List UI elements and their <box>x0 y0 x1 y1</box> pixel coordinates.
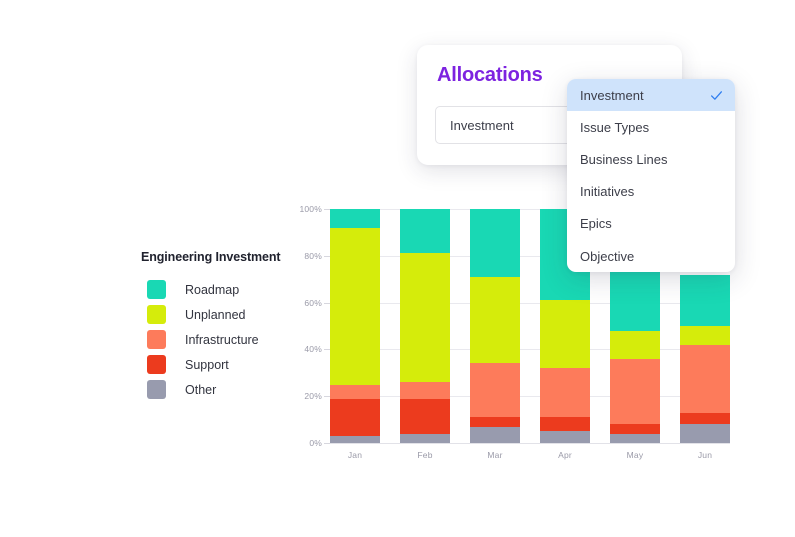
x-tick-label: May <box>610 450 660 460</box>
bar-segment[interactable] <box>400 399 450 434</box>
dropdown-item-epics[interactable]: Epics <box>567 208 735 240</box>
dropdown-item-issue-types[interactable]: Issue Types <box>567 111 735 143</box>
bar-segment[interactable] <box>680 424 730 443</box>
dropdown-item-label: Epics <box>580 216 612 231</box>
bar-segment[interactable] <box>610 424 660 433</box>
bar-segment[interactable] <box>330 228 380 385</box>
legend-swatch-other <box>147 380 166 399</box>
dropdown-item-business-lines[interactable]: Business Lines <box>567 143 735 175</box>
legend-label: Infrastructure <box>185 333 259 347</box>
bar-segment[interactable] <box>470 427 520 443</box>
bar-column[interactable] <box>330 209 380 443</box>
bar-segment[interactable] <box>540 368 590 417</box>
legend-title: Engineering Investment <box>141 250 301 264</box>
bar-segment[interactable] <box>610 331 660 359</box>
bar-segment[interactable] <box>330 399 380 436</box>
bar-segment[interactable] <box>540 300 590 368</box>
x-tick-label: Jun <box>680 450 730 460</box>
dropdown-item-label: Initiatives <box>580 184 634 199</box>
bar-segment[interactable] <box>680 345 730 413</box>
bar-column[interactable] <box>400 209 450 443</box>
legend-swatch-unplanned <box>147 305 166 324</box>
dropdown-item-label: Investment <box>580 88 644 103</box>
legend-swatch-support <box>147 355 166 374</box>
bar-segment[interactable] <box>610 359 660 425</box>
bar-segment[interactable] <box>330 436 380 443</box>
bar-segment[interactable] <box>680 326 730 345</box>
dropdown-item-label: Objective <box>580 249 634 264</box>
dropdown-item-label: Issue Types <box>580 120 649 135</box>
legend-label: Support <box>185 358 229 372</box>
y-tick-label: 100% <box>288 204 322 214</box>
bar-segment[interactable] <box>400 382 450 398</box>
x-tick-label: Feb <box>400 450 450 460</box>
legend-label: Roadmap <box>185 283 239 297</box>
bar-segment[interactable] <box>330 209 380 228</box>
legend-item: Unplanned <box>141 302 301 327</box>
legend-label: Other <box>185 383 216 397</box>
bar-segment[interactable] <box>400 253 450 382</box>
legend-swatch-roadmap <box>147 280 166 299</box>
legend-swatch-infrastructure <box>147 330 166 349</box>
bar-segment[interactable] <box>400 209 450 253</box>
x-tick-label: Jan <box>330 450 380 460</box>
page-title: Allocations <box>437 64 543 87</box>
check-icon <box>710 89 723 102</box>
bar-segment[interactable] <box>470 209 520 277</box>
legend-item: Other <box>141 377 301 402</box>
bar-segment[interactable] <box>470 363 520 417</box>
dropdown-item-investment[interactable]: Investment <box>567 79 735 111</box>
x-tick-label: Mar <box>470 450 520 460</box>
gridline-baseline <box>330 443 730 444</box>
bar-segment[interactable] <box>680 413 730 425</box>
bar-segment[interactable] <box>470 277 520 364</box>
chart-legend: Engineering Investment Roadmap Unplanned… <box>141 250 301 402</box>
legend-label: Unplanned <box>185 308 245 322</box>
bar-segment[interactable] <box>470 417 520 426</box>
legend-item: Infrastructure <box>141 327 301 352</box>
x-tick-label: Apr <box>540 450 590 460</box>
bar-column[interactable] <box>470 209 520 443</box>
bar-segment[interactable] <box>610 434 660 443</box>
legend-item: Support <box>141 352 301 377</box>
bar-segment[interactable] <box>540 431 590 443</box>
dropdown-item-label: Business Lines <box>580 152 667 167</box>
allocation-type-dropdown-menu[interactable]: InvestmentIssue TypesBusiness LinesIniti… <box>567 79 735 272</box>
dropdown-item-initiatives[interactable]: Initiatives <box>567 176 735 208</box>
bar-segment[interactable] <box>400 434 450 443</box>
bar-segment[interactable] <box>680 275 730 326</box>
y-tick-label: 0% <box>288 438 322 448</box>
select-value: Investment <box>450 118 514 133</box>
x-axis: Jan Feb Mar Apr May Jun <box>330 450 730 460</box>
legend-item: Roadmap <box>141 277 301 302</box>
bar-segment[interactable] <box>330 385 380 399</box>
bar-segment[interactable] <box>540 417 590 431</box>
dropdown-item-objective[interactable]: Objective <box>567 240 735 272</box>
